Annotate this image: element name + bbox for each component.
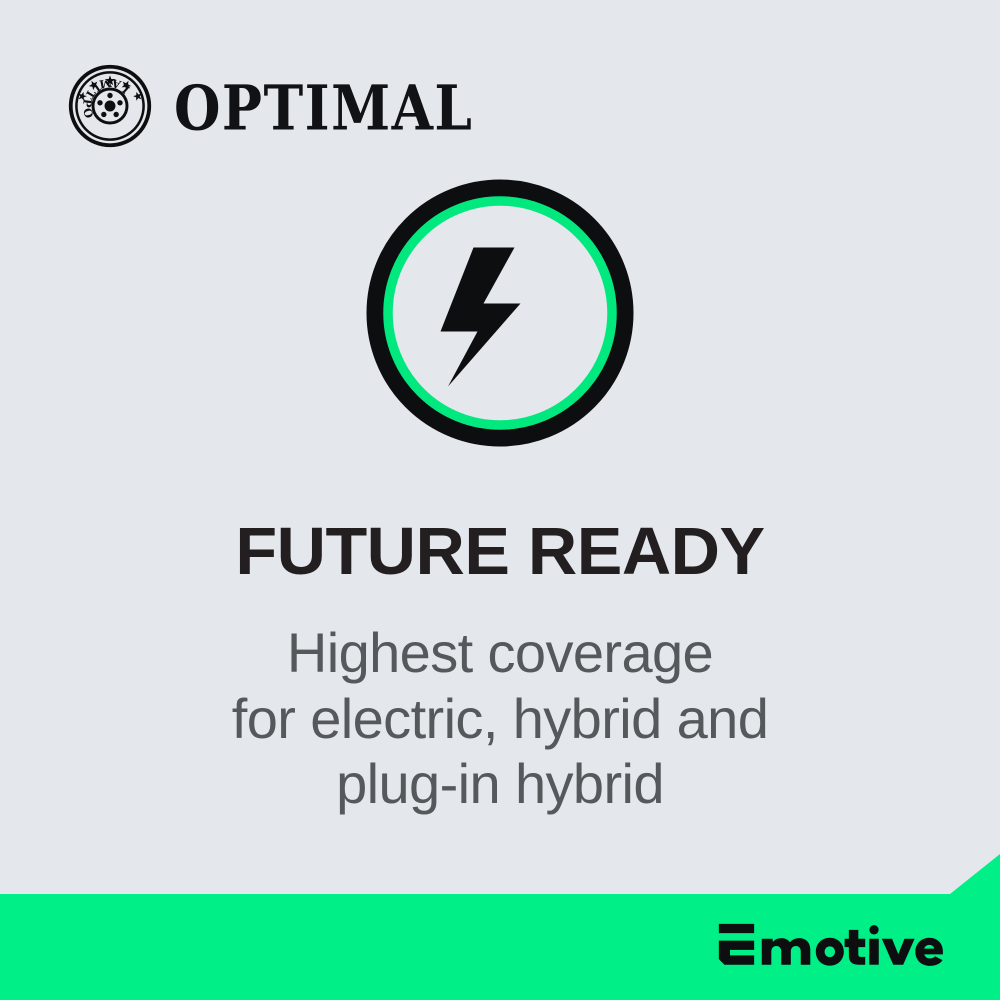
poster-canvas: O P T I M A L	[0, 0, 1000, 1000]
subcopy-line-3: plug-in hybrid	[40, 751, 960, 817]
optimal-seal-icon: O P T I M A L	[68, 64, 152, 148]
brand-lockup: O P T I M A L	[68, 64, 483, 148]
emotive-logo	[717, 922, 958, 974]
subcopy-line-2: for electric, hybrid and	[40, 686, 960, 752]
brand-wordmark: OPTIMAL	[174, 76, 473, 138]
copy-block: FUTURE READY Highest coverage for electr…	[0, 518, 1000, 817]
page-headline: FUTURE READY	[31, 518, 969, 586]
lightning-bolt-in-circle-icon	[366, 179, 634, 447]
page-subcopy: Highest coverage for electric, hybrid an…	[40, 620, 960, 817]
subcopy-line-1: Highest coverage	[40, 620, 960, 686]
